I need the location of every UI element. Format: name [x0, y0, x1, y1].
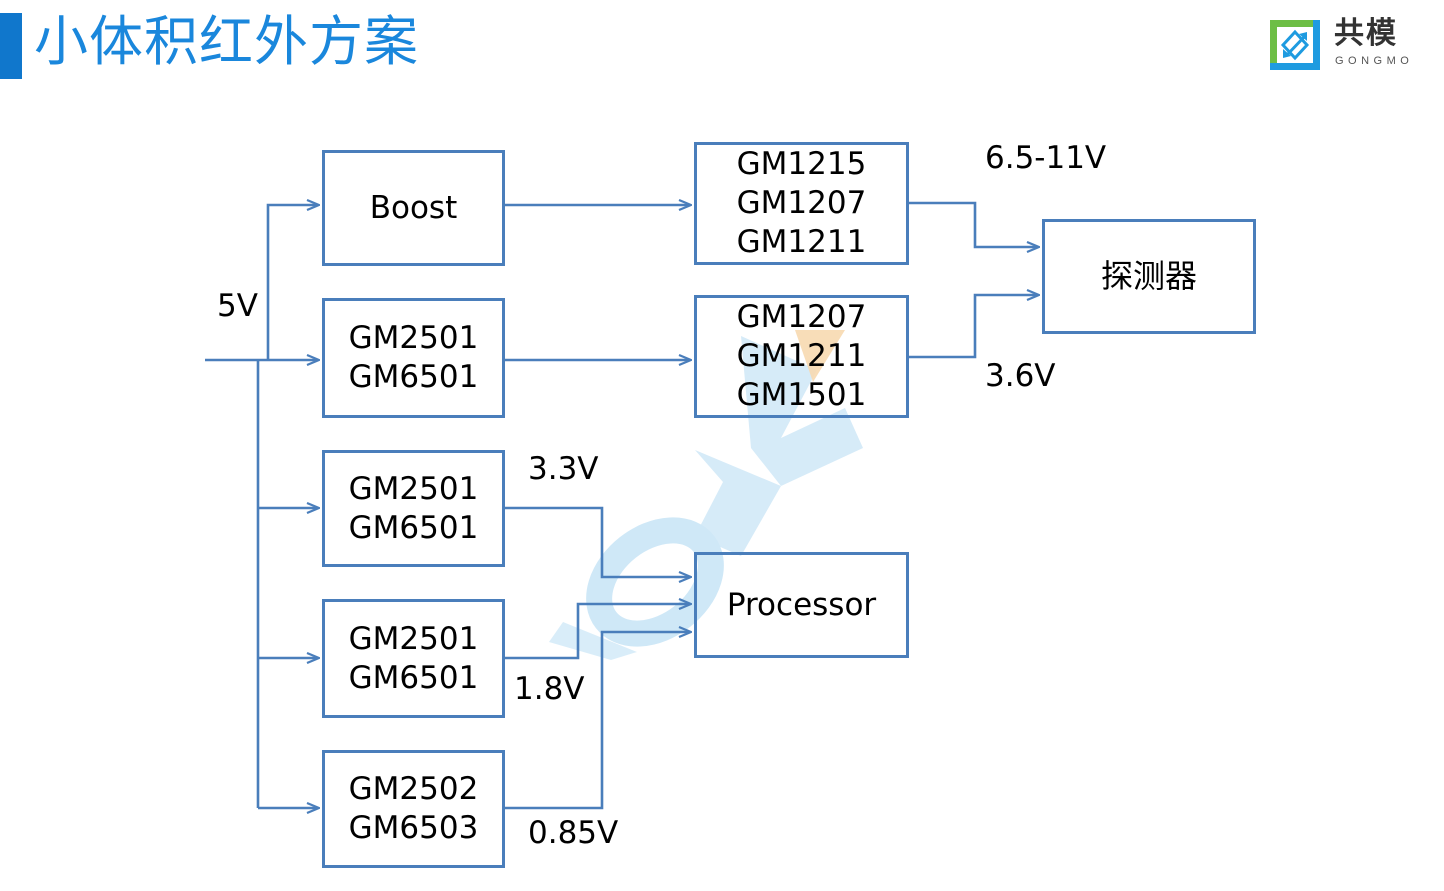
label-proc-18v: 1.8V: [514, 671, 585, 707]
node-gm1215-group[interactable]: GM1215 GM1207 GM1211: [694, 142, 909, 265]
node-gm1207-group[interactable]: GM1207 GM1211 GM1501: [694, 295, 909, 418]
node-gm2501-6501-c[interactable]: GM2501 GM6501: [322, 599, 505, 718]
node-line: GM6501: [349, 358, 479, 397]
node-detector[interactable]: 探测器: [1042, 219, 1256, 334]
node-line: 探测器: [1101, 257, 1197, 296]
label-proc-33v: 3.3V: [528, 451, 599, 487]
node-line: Boost: [370, 189, 458, 228]
label-input-voltage: 5V: [217, 288, 258, 324]
node-line: GM6501: [349, 659, 479, 698]
connector-wires: [0, 0, 1444, 891]
label-detector-low-volt: 3.6V: [985, 358, 1056, 394]
node-line: Processor: [727, 586, 876, 625]
node-line: GM1211: [737, 223, 867, 262]
node-line: GM1215: [737, 145, 867, 184]
node-line: GM2501: [349, 319, 479, 358]
node-line: GM6501: [349, 509, 479, 548]
node-line: GM2502: [349, 770, 479, 809]
node-line: GM1207: [737, 184, 867, 223]
node-line: GM1207: [737, 298, 867, 337]
node-boost[interactable]: Boost: [322, 150, 505, 266]
node-line: GM6503: [349, 809, 479, 848]
node-line: GM2501: [349, 620, 479, 659]
node-gm2501-6501-b[interactable]: GM2501 GM6501: [322, 450, 505, 567]
node-gm2501-6501-a[interactable]: GM2501 GM6501: [322, 298, 505, 418]
node-processor[interactable]: Processor: [694, 552, 909, 658]
node-gm2502-6503[interactable]: GM2502 GM6503: [322, 750, 505, 868]
node-line: GM1211: [737, 337, 867, 376]
node-line: GM1501: [737, 376, 867, 415]
label-detector-high-volt: 6.5-11V: [985, 140, 1106, 176]
label-proc-085v: 0.85V: [528, 815, 618, 851]
node-line: GM2501: [349, 470, 479, 509]
block-diagram: Boost GM2501 GM6501 GM2501 GM6501 GM2501…: [0, 0, 1444, 891]
